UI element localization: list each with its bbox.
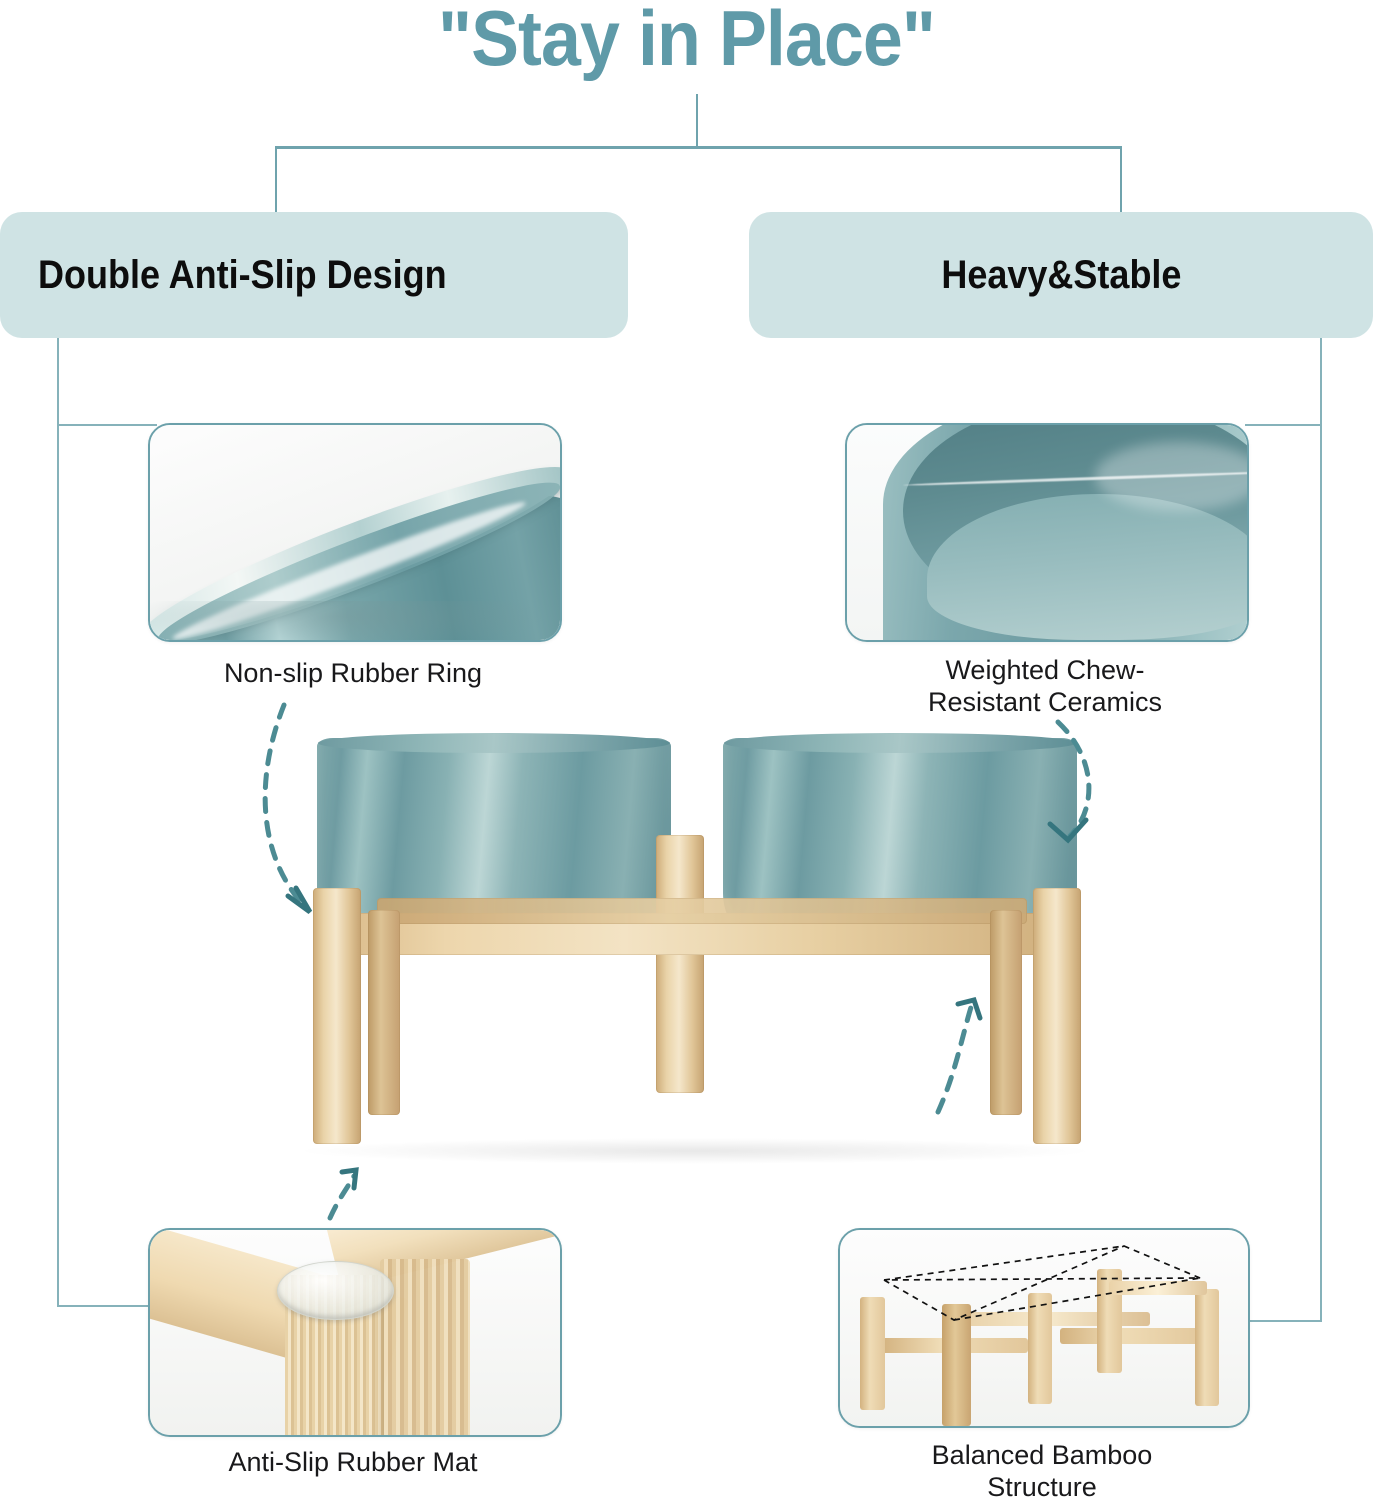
arrow-to-rubber-mat-path	[330, 1176, 354, 1218]
arrow-to-rubber-ring-path	[265, 705, 306, 908]
arrow-to-ceramic-bowl-head	[1050, 820, 1086, 840]
photo-anti-slip-rubber-mat-art	[150, 1230, 560, 1435]
caption-balanced-bamboo-structure: Balanced Bamboo Structure	[838, 1440, 1246, 1504]
caption-anti-slip-rubber-mat: Anti-Slip Rubber Mat	[148, 1447, 558, 1479]
photo-balanced-bamboo-structure-art	[840, 1230, 1248, 1426]
photo-balanced-bamboo-structure	[838, 1228, 1250, 1428]
photo-anti-slip-rubber-mat	[148, 1228, 562, 1437]
balance-triangle-overlay	[840, 1230, 1248, 1426]
rubber-foot-pad	[277, 1261, 394, 1320]
arrow-to-bamboo-structure-path	[938, 1004, 972, 1112]
infographic-canvas: "Stay in Place" Double Anti-Slip Design …	[0, 0, 1373, 1500]
